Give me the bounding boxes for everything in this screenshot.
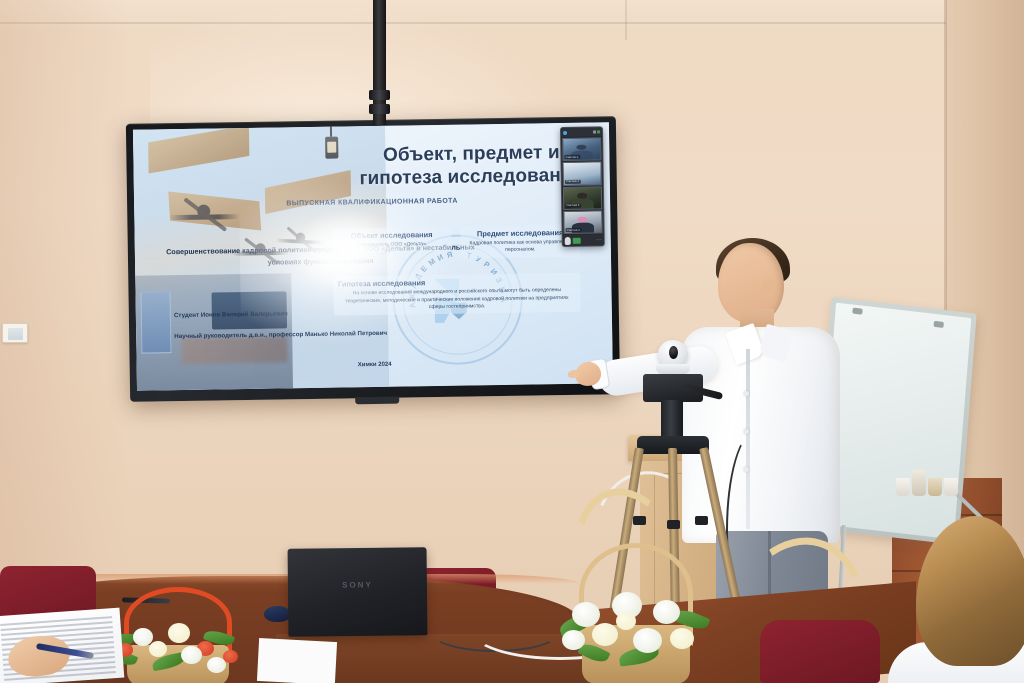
minimize-icon[interactable]	[593, 131, 596, 134]
paper-cups-stack[interactable]	[896, 470, 958, 496]
photo-chairs	[182, 336, 288, 364]
video-call-toolbar[interactable]: ···	[562, 235, 604, 247]
box-subject-body: Кадровая политика как основа управления …	[463, 239, 578, 256]
box-object-heading: Объект исследования	[334, 230, 449, 241]
laptop-brand-logo: SONY	[342, 580, 373, 589]
box-object-body: Деятельность ООО «Дельта».	[334, 241, 449, 250]
computer-mouse[interactable]	[264, 606, 291, 622]
whiteboard-surface[interactable]	[819, 303, 972, 540]
app-logo-icon	[563, 131, 567, 135]
window-buttons[interactable]	[593, 131, 601, 134]
photo-hanging-lantern	[325, 137, 338, 159]
webcam-lens-icon	[669, 346, 678, 359]
participant-name: Участник 2	[564, 179, 580, 183]
slide-box-hypothesis: Гипотеза исследования На основе исследов…	[333, 273, 581, 316]
presenter-shirt-button	[744, 391, 749, 396]
maximize-icon[interactable]	[597, 131, 600, 134]
mount-knuckle-upper	[369, 90, 390, 100]
box-subject-heading: Предмет исследования	[463, 228, 578, 239]
camera-icon[interactable]	[572, 237, 580, 243]
paper-cup[interactable]	[928, 478, 942, 496]
printed-papers[interactable]	[257, 638, 337, 683]
mount-knuckle-lower	[369, 104, 390, 114]
participant-tile[interactable]: Участник 2	[562, 162, 602, 186]
paper-cup[interactable]	[944, 478, 958, 496]
participant-tile[interactable]: Участник 3	[562, 186, 602, 210]
tv-bottom-bracket	[356, 397, 400, 405]
participant-head	[578, 217, 588, 223]
presenter-ear	[762, 279, 776, 297]
wall-light-switch[interactable]	[2, 323, 28, 343]
paper-cup[interactable]	[912, 470, 926, 496]
participant-tile[interactable]: Участник 4	[563, 210, 603, 234]
box-hypothesis-body: На основе исследований международного и …	[335, 287, 579, 313]
participant-tile[interactable]: Участник 1	[562, 138, 602, 162]
slide-box-object: Объект исследования Деятельность ООО «Де…	[332, 227, 451, 253]
participant-head	[577, 144, 587, 150]
tv-bezel: АКАДЕМИЯ ТУРИЗМА Объект, предмет и гипот…	[126, 116, 620, 402]
whiteboard-clip[interactable]	[852, 308, 862, 315]
wall-seam-vertical	[625, 0, 627, 40]
presentation-slide: АКАДЕМИЯ ТУРИЗМА Объект, предмет и гипот…	[133, 122, 613, 390]
tv-screen[interactable]: АКАДЕМИЯ ТУРИЗМА Объект, предмет и гипот…	[133, 122, 613, 390]
video-conference-panel[interactable]: Участник 1 Участник 2 Участник 3	[559, 127, 605, 248]
participant-name: Участник 4	[565, 228, 581, 232]
participant-tiles: Участник 1 Участник 2 Участник 3	[561, 137, 604, 236]
more-options-icon[interactable]: ···	[596, 237, 602, 243]
wall-mounted-television[interactable]: АКАДЕМИЯ ТУРИЗМА Объект, предмет и гипот…	[126, 116, 620, 402]
paper-cup[interactable]	[896, 478, 910, 496]
webcam-base	[656, 364, 690, 374]
conference-room-scene: АКАДЕМИЯ ТУРИЗМА Объект, предмет и гипот…	[0, 0, 1024, 683]
table-laptop[interactable]: SONY	[288, 547, 428, 636]
tripod-leg-lock[interactable]	[695, 516, 708, 525]
whiteboard-clip[interactable]	[934, 321, 944, 328]
photo-ceiling-panel	[265, 170, 351, 214]
photo-ceiling-panel	[148, 125, 249, 174]
participant-name: Участник 1	[564, 155, 580, 159]
seal-char: Р	[482, 259, 491, 269]
participant-head	[577, 193, 587, 199]
mic-icon[interactable]	[564, 237, 570, 245]
photo-window	[141, 291, 172, 354]
participant-head	[577, 169, 587, 175]
participant-name: Участник 3	[565, 204, 581, 208]
flower-basket-center	[552, 556, 720, 683]
